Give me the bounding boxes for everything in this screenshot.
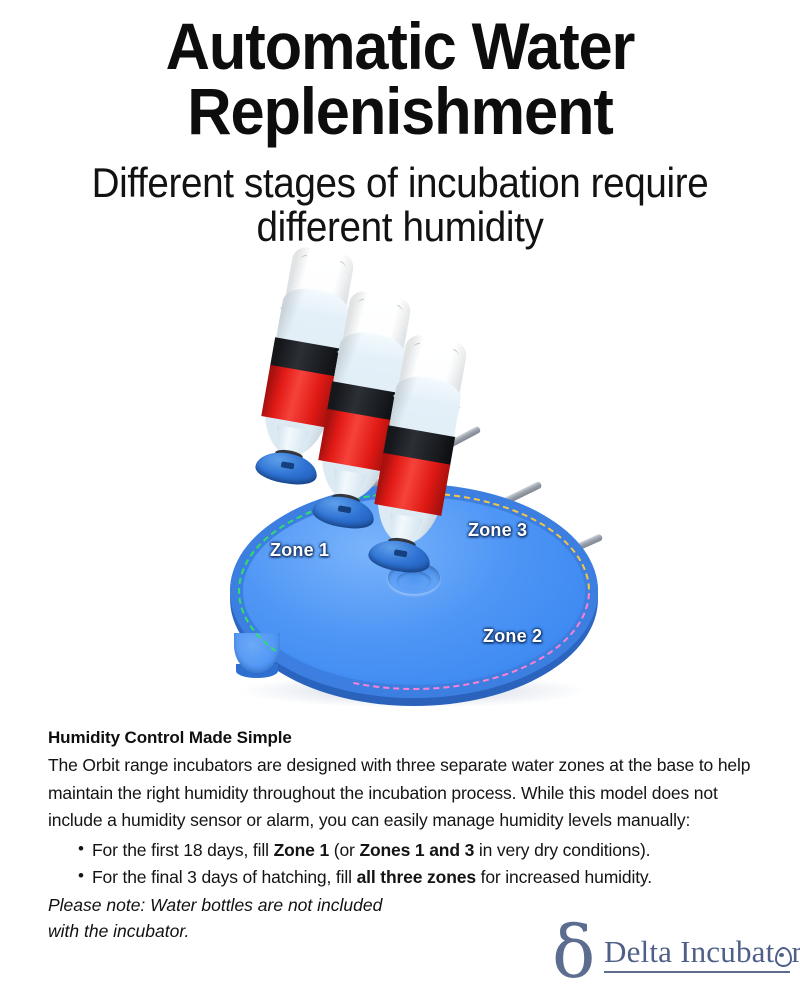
zone-1-label: Zone 1 xyxy=(270,540,329,561)
page-title: Automatic Water Replenishment xyxy=(28,14,772,145)
zone-3-label: Zone 3 xyxy=(468,520,527,541)
bullet-1-bold-1: Zone 1 xyxy=(274,840,330,860)
brand-name: Delta Incubatrs xyxy=(604,936,800,967)
poster-header: Automatic Water Replenishment Different … xyxy=(0,0,800,250)
disclaimer-line-1: Please note: Water bottles are not inclu… xyxy=(48,893,468,918)
brand-name-part-1: Delta Incubat xyxy=(604,934,774,969)
page-subtitle: Different stages of incubation require d… xyxy=(32,161,768,250)
egg-icon xyxy=(774,945,791,965)
page-title-line-1: Automatic Water xyxy=(65,14,735,79)
brand-name-part-2: rs xyxy=(791,934,800,969)
bullet-2-bold-1: all three zones xyxy=(357,867,476,887)
bullet-1-bold-2: Zones 1 and 3 xyxy=(359,840,474,860)
delta-glyph-icon: δ xyxy=(552,916,595,988)
bullet-1-mid: (or xyxy=(329,840,359,860)
bullet-1-pre: For the first 18 days, fill xyxy=(92,840,274,860)
disclaimer-note: Please note: Water bottles are not inclu… xyxy=(48,893,468,944)
disclaimer-line-2: with the incubator. xyxy=(48,919,468,944)
product-illustration: Zone 1 Zone 3 Zone 2 xyxy=(0,268,800,723)
logo-underline xyxy=(604,971,790,973)
bullet-1-post: in very dry conditions). xyxy=(474,840,650,860)
instruction-list: For the first 18 days, fill Zone 1 (or Z… xyxy=(48,837,764,891)
section-heading: Humidity Control Made Simple xyxy=(48,728,764,748)
zone-2-label: Zone 2 xyxy=(483,626,542,647)
page-title-line-2: Replenishment xyxy=(65,79,735,144)
page-subtitle-line-1: Different stages of incubation require xyxy=(43,161,757,206)
section-paragraph: The Orbit range incubators are designed … xyxy=(48,752,764,835)
page-subtitle-line-2: different humidity xyxy=(43,205,757,250)
list-item: For the final 3 days of hatching, fill a… xyxy=(78,864,764,891)
brand-logo: δ Delta Incubatrs xyxy=(552,924,790,990)
bullet-2-pre: For the final 3 days of hatching, fill xyxy=(92,867,357,887)
list-item: For the first 18 days, fill Zone 1 (or Z… xyxy=(78,837,764,864)
bullet-2-post: for increased humidity. xyxy=(476,867,652,887)
description-block: Humidity Control Made Simple The Orbit r… xyxy=(48,728,764,944)
